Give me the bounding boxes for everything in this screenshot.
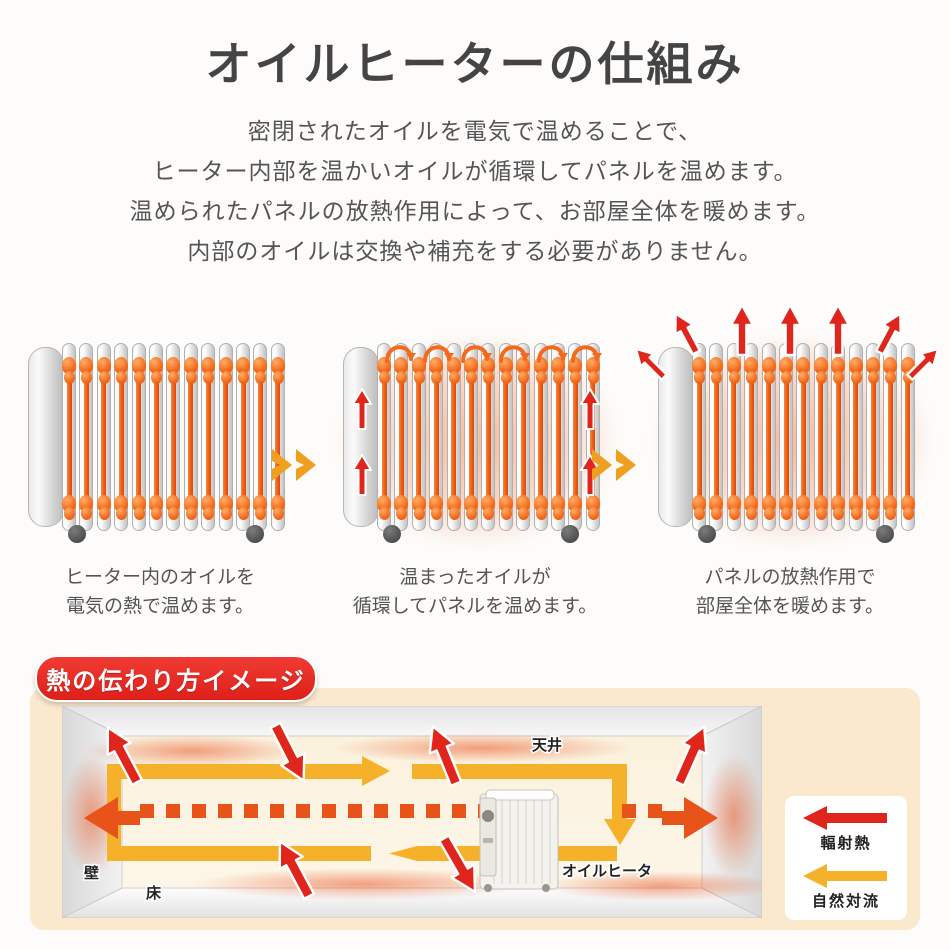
oil-bulb-bottom-inner (868, 507, 879, 520)
legend-item-convection: 自然対流 (803, 863, 889, 911)
oil-bulb-top-inner (186, 371, 197, 384)
caster-wheel-right (246, 525, 264, 543)
oil-bulb-top-inner (221, 371, 232, 384)
step-2-illustration (325, 325, 625, 555)
radiator-3 (658, 343, 920, 533)
oil-bulb-bottom-inner (903, 507, 914, 520)
step-1-caption-line-1: ヒーター内のオイルを (65, 566, 255, 588)
legend-label-convection: 自然対流 (812, 890, 880, 911)
oil-bulb-top-inner (134, 371, 145, 384)
oil-bulb-bottom-inner (449, 507, 460, 520)
oil-bulb-bottom-inner (553, 507, 564, 520)
oil-bulb-bottom-inner (238, 507, 249, 520)
oil-bulb-bottom-inner (379, 507, 390, 520)
lead-line-1: 密閉されたオイルを電気で温めることで、 (0, 112, 950, 152)
double-chevron-right-icon-2 (588, 443, 648, 487)
oil-bulb-bottom-inner (186, 507, 197, 520)
step-1: ヒーター内のオイルを 電気の熱で温めます。 (10, 325, 310, 621)
oil-bulb-top-inner (449, 371, 460, 384)
oil-bulb-bottom-inner (694, 507, 705, 520)
oil-bulb-bottom-inner (414, 507, 425, 520)
svg-text:オイルヒータ: オイルヒータ (562, 862, 652, 880)
oil-bulb-top-inner (466, 371, 477, 384)
oil-bulb-bottom-inner (466, 507, 477, 520)
caster-wheel-left (68, 525, 86, 543)
svg-text:壁: 壁 (83, 864, 99, 882)
oil-bulb-top-inner (151, 371, 162, 384)
oil-bulb-top-inner (536, 371, 547, 384)
radiator-fins (377, 343, 605, 531)
circulation-arrows (377, 331, 607, 367)
orange-left-arrow-icon (803, 863, 889, 889)
lead-line-4: 内部のオイルは交換や補充をする必要がありません。 (0, 232, 950, 272)
step-2: 温まったオイルが 循環してパネルを温めます。 (325, 325, 625, 621)
radiator-side-panel (343, 347, 379, 527)
heat-up-arrow-right-top (579, 387, 601, 431)
oil-bulb-bottom-inner (851, 507, 862, 520)
oil-bulb-bottom-inner (729, 507, 740, 520)
oil-bulb-top-inner (501, 371, 512, 384)
radiator-fins (62, 343, 290, 531)
oil-bulb-top-inner (414, 371, 425, 384)
oil-bulb-bottom-inner (99, 507, 110, 520)
step-2-caption-line-1: 温まったオイルが (399, 566, 550, 588)
step-1-caption: ヒーター内のオイルを 電気の熱で温めます。 (10, 563, 310, 621)
oil-bulb-bottom-inner (151, 507, 162, 520)
radiate-arrows (624, 299, 950, 419)
oil-bulb-bottom-inner (221, 507, 232, 520)
step-1-illustration (10, 325, 310, 555)
oil-bulb-bottom-inner (64, 507, 75, 520)
legend-label-radiant: 輻射熱 (820, 832, 871, 853)
heat-transfer-badge: 熱の伝わり方イメージ (35, 655, 317, 702)
heat-up-arrow-left-bottom (351, 453, 373, 497)
process-steps: ヒーター内のオイルを 電気の熱で温めます。 (0, 325, 950, 635)
oil-bulb-top-inner (588, 371, 599, 384)
room-diagram: 天井 壁 床 オイルヒータ (62, 706, 762, 918)
legend-item-radiant: 輻射熱 (803, 805, 889, 853)
oil-bulb-bottom-inner (781, 507, 792, 520)
double-chevron-right-icon-1 (268, 443, 328, 487)
caster-wheel-left (383, 525, 401, 543)
step-2-caption-line-2: 循環してパネルを温めます。 (353, 595, 598, 617)
svg-text:天井: 天井 (532, 736, 562, 754)
oil-bulb-bottom-inner (536, 507, 547, 520)
oil-bulb-top-inner (238, 371, 249, 384)
caster-wheel-right (876, 525, 894, 543)
step-2-caption: 温まったオイルが 循環してパネルを温めます。 (325, 563, 625, 621)
lead-line-3: 温められたパネルの放熱作用によって、お部屋全体を暖めます。 (0, 192, 950, 232)
oil-bulb-bottom-inner (134, 507, 145, 520)
oil-bulb-bottom-inner (816, 507, 827, 520)
caster-wheel-left (698, 525, 716, 543)
oil-bulb-bottom-inner (501, 507, 512, 520)
heat-up-arrow-left-top (351, 387, 373, 431)
oil-heater-unit (480, 790, 558, 892)
oil-bulb-bottom-inner (764, 507, 775, 520)
oil-bulb-top-inner (99, 371, 110, 384)
step-3-illustration (640, 325, 940, 555)
caster-wheel-right (561, 525, 579, 543)
infographic-page: オイルヒーターの仕組み 密閉されたオイルを電気で温めることで、 ヒーター内部を温… (0, 0, 950, 950)
lead-paragraph: 密閉されたオイルを電気で温めることで、 ヒーター内部を温かいオイルが循環してパネ… (0, 112, 950, 272)
oil-bulb-bottom-inner (588, 507, 599, 520)
heat-legend: 輻射熱 自然対流 (785, 796, 907, 920)
step-3-caption-line-1: パネルの放熱作用で (704, 566, 875, 588)
step-3-caption-line-2: 部屋全体を暖めます。 (696, 595, 884, 617)
radiator-1 (28, 343, 290, 533)
lead-line-2: ヒーター内部を温かいオイルが循環してパネルを温めます。 (0, 152, 950, 192)
red-left-arrow-icon (803, 805, 889, 831)
oil-bulb-top-inner (553, 371, 564, 384)
step-3-caption: パネルの放熱作用で 部屋全体を暖めます。 (640, 563, 940, 621)
page-title: オイルヒーターの仕組み (0, 28, 950, 94)
oil-bulb-bottom-inner (273, 507, 284, 520)
oil-bulb-top-inner (273, 371, 284, 384)
step-1-caption-line-2: 電気の熱で温めます。 (66, 595, 254, 617)
oil-bulb-top-inner (64, 371, 75, 384)
svg-text:床: 床 (146, 884, 162, 902)
radiator-2 (343, 343, 605, 533)
radiator-side-panel (28, 347, 64, 527)
oil-bulb-top-inner (379, 371, 390, 384)
step-3: パネルの放熱作用で 部屋全体を暖めます。 (640, 325, 940, 621)
